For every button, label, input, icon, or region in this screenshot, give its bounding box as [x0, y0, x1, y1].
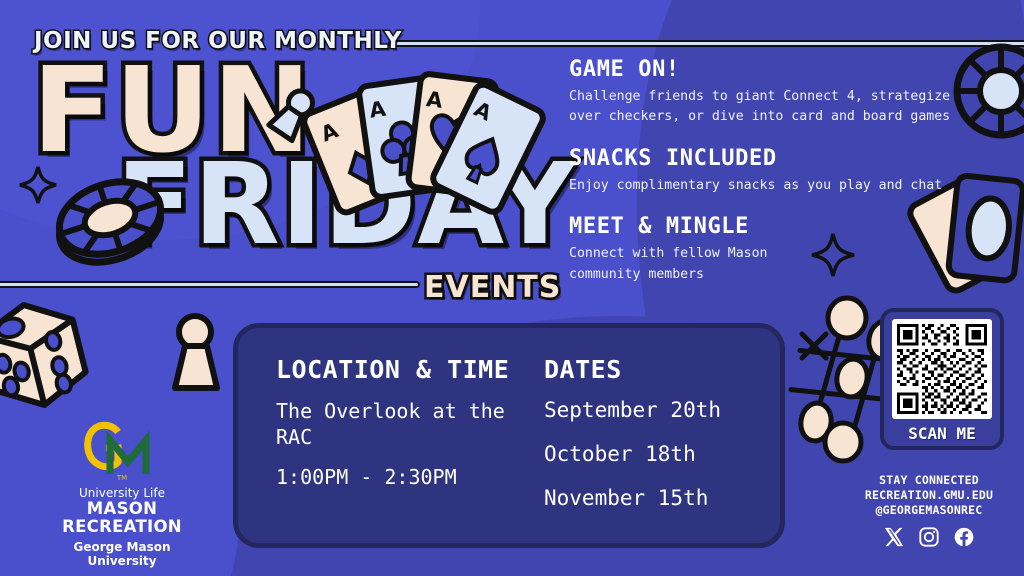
event-info-card: LOCATION & TIME The Overlook at the RAC …	[233, 323, 785, 548]
feature-body: Challenge friends to giant Connect 4, st…	[569, 87, 969, 128]
qr-panel[interactable]: SCAN ME	[880, 308, 1004, 450]
title-friday: FRIDAY	[116, 160, 576, 252]
feature-title: MEET & MINGLE	[569, 214, 981, 239]
feature-body: Connect with fellow Mason community memb…	[569, 244, 809, 285]
feature-title: SNACKS INCLUDED	[569, 146, 981, 171]
scan-me-label: SCAN ME	[908, 424, 975, 443]
connect-block: STAY CONNECTED RECREATION.GMU.EDU @GEORG…	[848, 473, 1010, 548]
location-venue: The Overlook at the RAC	[276, 398, 544, 450]
date-item: September 20th	[544, 398, 721, 422]
gmu-logo-block: TM University Life MASON RECREATION Geor…	[37, 418, 207, 568]
location-heading: LOCATION & TIME	[276, 356, 544, 384]
unit-name-line2: RECREATION	[37, 518, 207, 536]
feature-item: SNACKS INCLUDED Enjoy complimentary snac…	[569, 146, 981, 196]
feature-item: GAME ON! Challenge friends to giant Conn…	[569, 57, 981, 128]
instagram-icon[interactable]	[918, 526, 940, 548]
unit-name-line1: MASON	[37, 500, 207, 518]
location-time: 1:00PM - 2:30PM	[276, 464, 544, 490]
fun-friday-poster: JOIN US FOR OUR MONTHLY FUN FRIDAY EVENT…	[0, 0, 1024, 576]
gmu-monogram-icon	[37, 418, 207, 480]
svg-text:A: A	[470, 97, 496, 126]
qr-code-icon[interactable]	[892, 319, 992, 419]
x-icon[interactable]	[883, 526, 905, 548]
dates-column: DATES September 20th October 18th Novemb…	[544, 356, 721, 543]
university-name: George Mason University	[37, 540, 207, 568]
feature-title: GAME ON!	[569, 57, 981, 82]
date-item: October 18th	[544, 442, 721, 466]
social-handle[interactable]: @GEORGEMASONREC	[848, 503, 1010, 518]
feature-body: Enjoy complimentary snacks as you play a…	[569, 176, 969, 196]
date-item: November 15th	[544, 486, 721, 510]
stay-connected-label: STAY CONNECTED	[848, 473, 1010, 488]
header-divider-line	[388, 40, 1024, 47]
website-url[interactable]: RECREATION.GMU.EDU	[848, 488, 1010, 503]
university-life-label: University Life	[37, 486, 207, 500]
subtitle-events: EVENTS	[424, 270, 561, 305]
events-divider-line	[0, 281, 420, 288]
location-column: LOCATION & TIME The Overlook at the RAC …	[276, 356, 544, 543]
features-list: GAME ON! Challenge friends to giant Conn…	[569, 57, 981, 303]
feature-item: MEET & MINGLE Connect with fellow Mason …	[569, 214, 981, 285]
social-icons	[848, 526, 1010, 548]
facebook-icon[interactable]	[953, 526, 975, 548]
gmu-tm: TM	[37, 474, 207, 482]
dates-heading: DATES	[544, 356, 721, 384]
